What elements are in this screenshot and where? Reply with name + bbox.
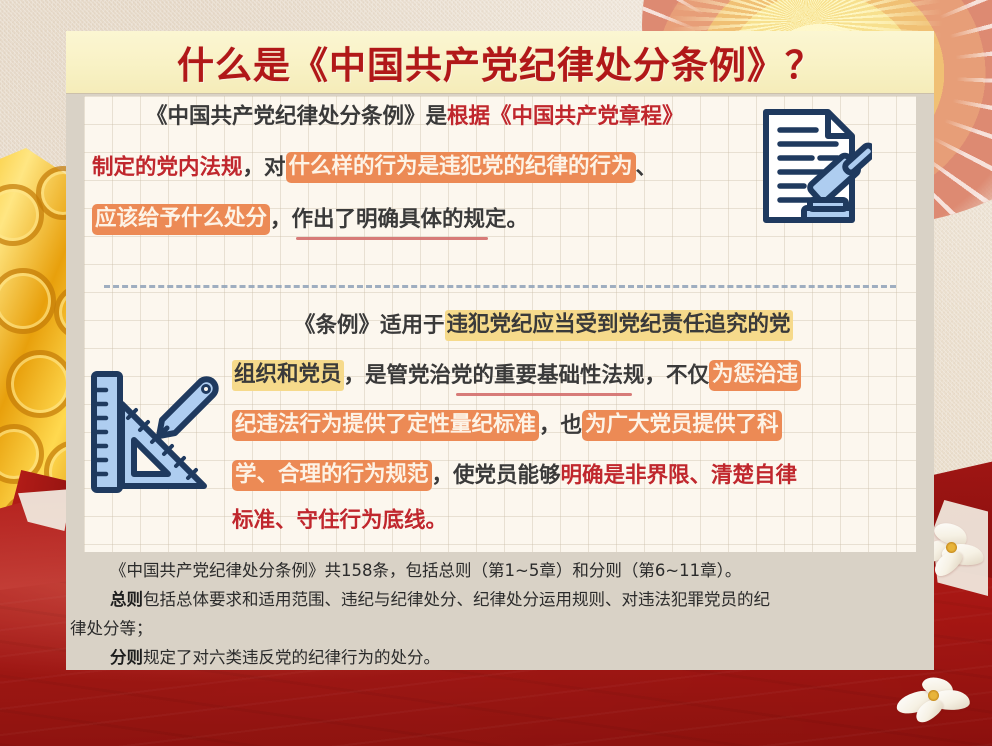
p2-line-4: 学、合理的行为规范 ，使党员能够 明确是非界限、清楚自律 [232,460,797,491]
footnote-line-1: 《中国共产党纪律处分条例》共158条，包括总则（第1~5章）和分则（第6~11章… [84,556,952,585]
p1-l2-seg-1: 制定的党内法规 [92,157,243,179]
p2-underline-1 [456,393,632,396]
p1-line-1: 《中国共产党纪律处分条例》是 根据《中国共产党章程》 [146,106,684,128]
p2-line-5: 标准、守住行为底线。 [232,510,447,532]
p2-l5-seg-1: 标准、守住行为底线。 [232,510,447,532]
p2-l2-seg-2: ，是管党治党的重要基础性法规，不仅 [344,365,710,387]
p1-underline [296,237,488,240]
p2-l4-highlight: 学、合理的行为规范 [232,460,432,491]
footnote-term-zongze: 总则 [110,590,143,609]
p2-l3-seg-2: ，也 [539,415,582,437]
p1-line-2: 制定的党内法规 ，对 什么样的行为是违犯党的纪律的行为 、 [92,152,657,183]
p2-l4-seg-2: ，使党员能够 [432,465,561,487]
p2-line-1: 《条例》适用于 违犯党纪应当受到党纪责任追究的党 [294,310,793,341]
slide-title-band: 什么是《中国共产党纪律处分条例》？ [66,31,934,93]
document-gavel-svg [752,104,872,228]
footnote-block: 《中国共产党纪律处分条例》共158条，包括总则（第1~5章）和分则（第6~11章… [84,556,952,672]
footnote-line-2: 总则包括总体要求和适用范围、违纪与纪律处分、纪律处分运用规则、对违法犯罪党员的纪 [70,585,938,614]
p1-l1-seg-1: 《中国共产党纪律处分条例》是 [146,106,447,128]
footnote-term-fenze: 分则 [110,648,143,667]
p1-line-3: 应该给予什么处分 ，作出了明确具体的规定。 [92,204,528,235]
footnote-line-3: 分则规定了对六类违反党的纪律行为的处分。 [70,643,938,672]
p2-l3-highlight-2: 为广大党员提供了科 [582,410,782,441]
p2-l3-highlight: 纪违法行为提供了定性量纪标准 [232,410,539,441]
p1-l3-highlight: 应该给予什么处分 [92,204,270,235]
page-title: 什么是《中国共产党纪律处分条例》？ [177,35,823,89]
ruler-pencil-icon [88,368,220,500]
ruler-pencil-svg [88,368,220,500]
footnote-line-2-rest: 包括总体要求和适用范围、违纪与纪律处分、纪律处分运用规则、对违法犯罪党员的纪 [143,590,770,609]
p2-l2-highlight-2: 为惩治违 [709,360,801,391]
p2-l1-highlight: 违犯党纪应当受到党纪责任追究的党 [445,310,793,341]
p1-l1-seg-2: 根据《中国共产党章程》 [447,106,684,128]
p2-l2-highlight: 组织和党员 [232,360,344,391]
p2-l1-seg-1: 《条例》适用于 [294,315,445,337]
document-gavel-icon [752,104,872,228]
p1-l2-seg-2: ，对 [243,157,286,179]
cloud-swirl-icon [6,350,74,418]
magnolia-blossom-icon [896,672,976,728]
section-divider [104,285,896,288]
p1-l3-seg-2: ，作出了明确具体的规定。 [270,209,528,231]
p2-l4-seg-3: 明确是非界限、清楚自律 [561,465,798,487]
footnote-line-2-wrap: 律处分等； [70,614,938,643]
notebook-panel: 《中国共产党纪律处分条例》是 根据《中国共产党章程》 制定的党内法规 ，对 什么… [84,96,916,552]
p1-l2-seg-4: 、 [636,157,658,179]
footnote-line-3-rest: 规定了对六类违反党的纪律行为的处分。 [143,648,440,667]
p1-l2-highlight: 什么样的行为是违犯党的纪律的行为 [286,152,636,183]
p2-line-2: 组织和党员 ，是管党治党的重要基础性法规，不仅 为惩治违 [232,360,801,391]
p2-line-3: 纪违法行为提供了定性量纪标准 ，也 为广大党员提供了科 [232,410,782,441]
